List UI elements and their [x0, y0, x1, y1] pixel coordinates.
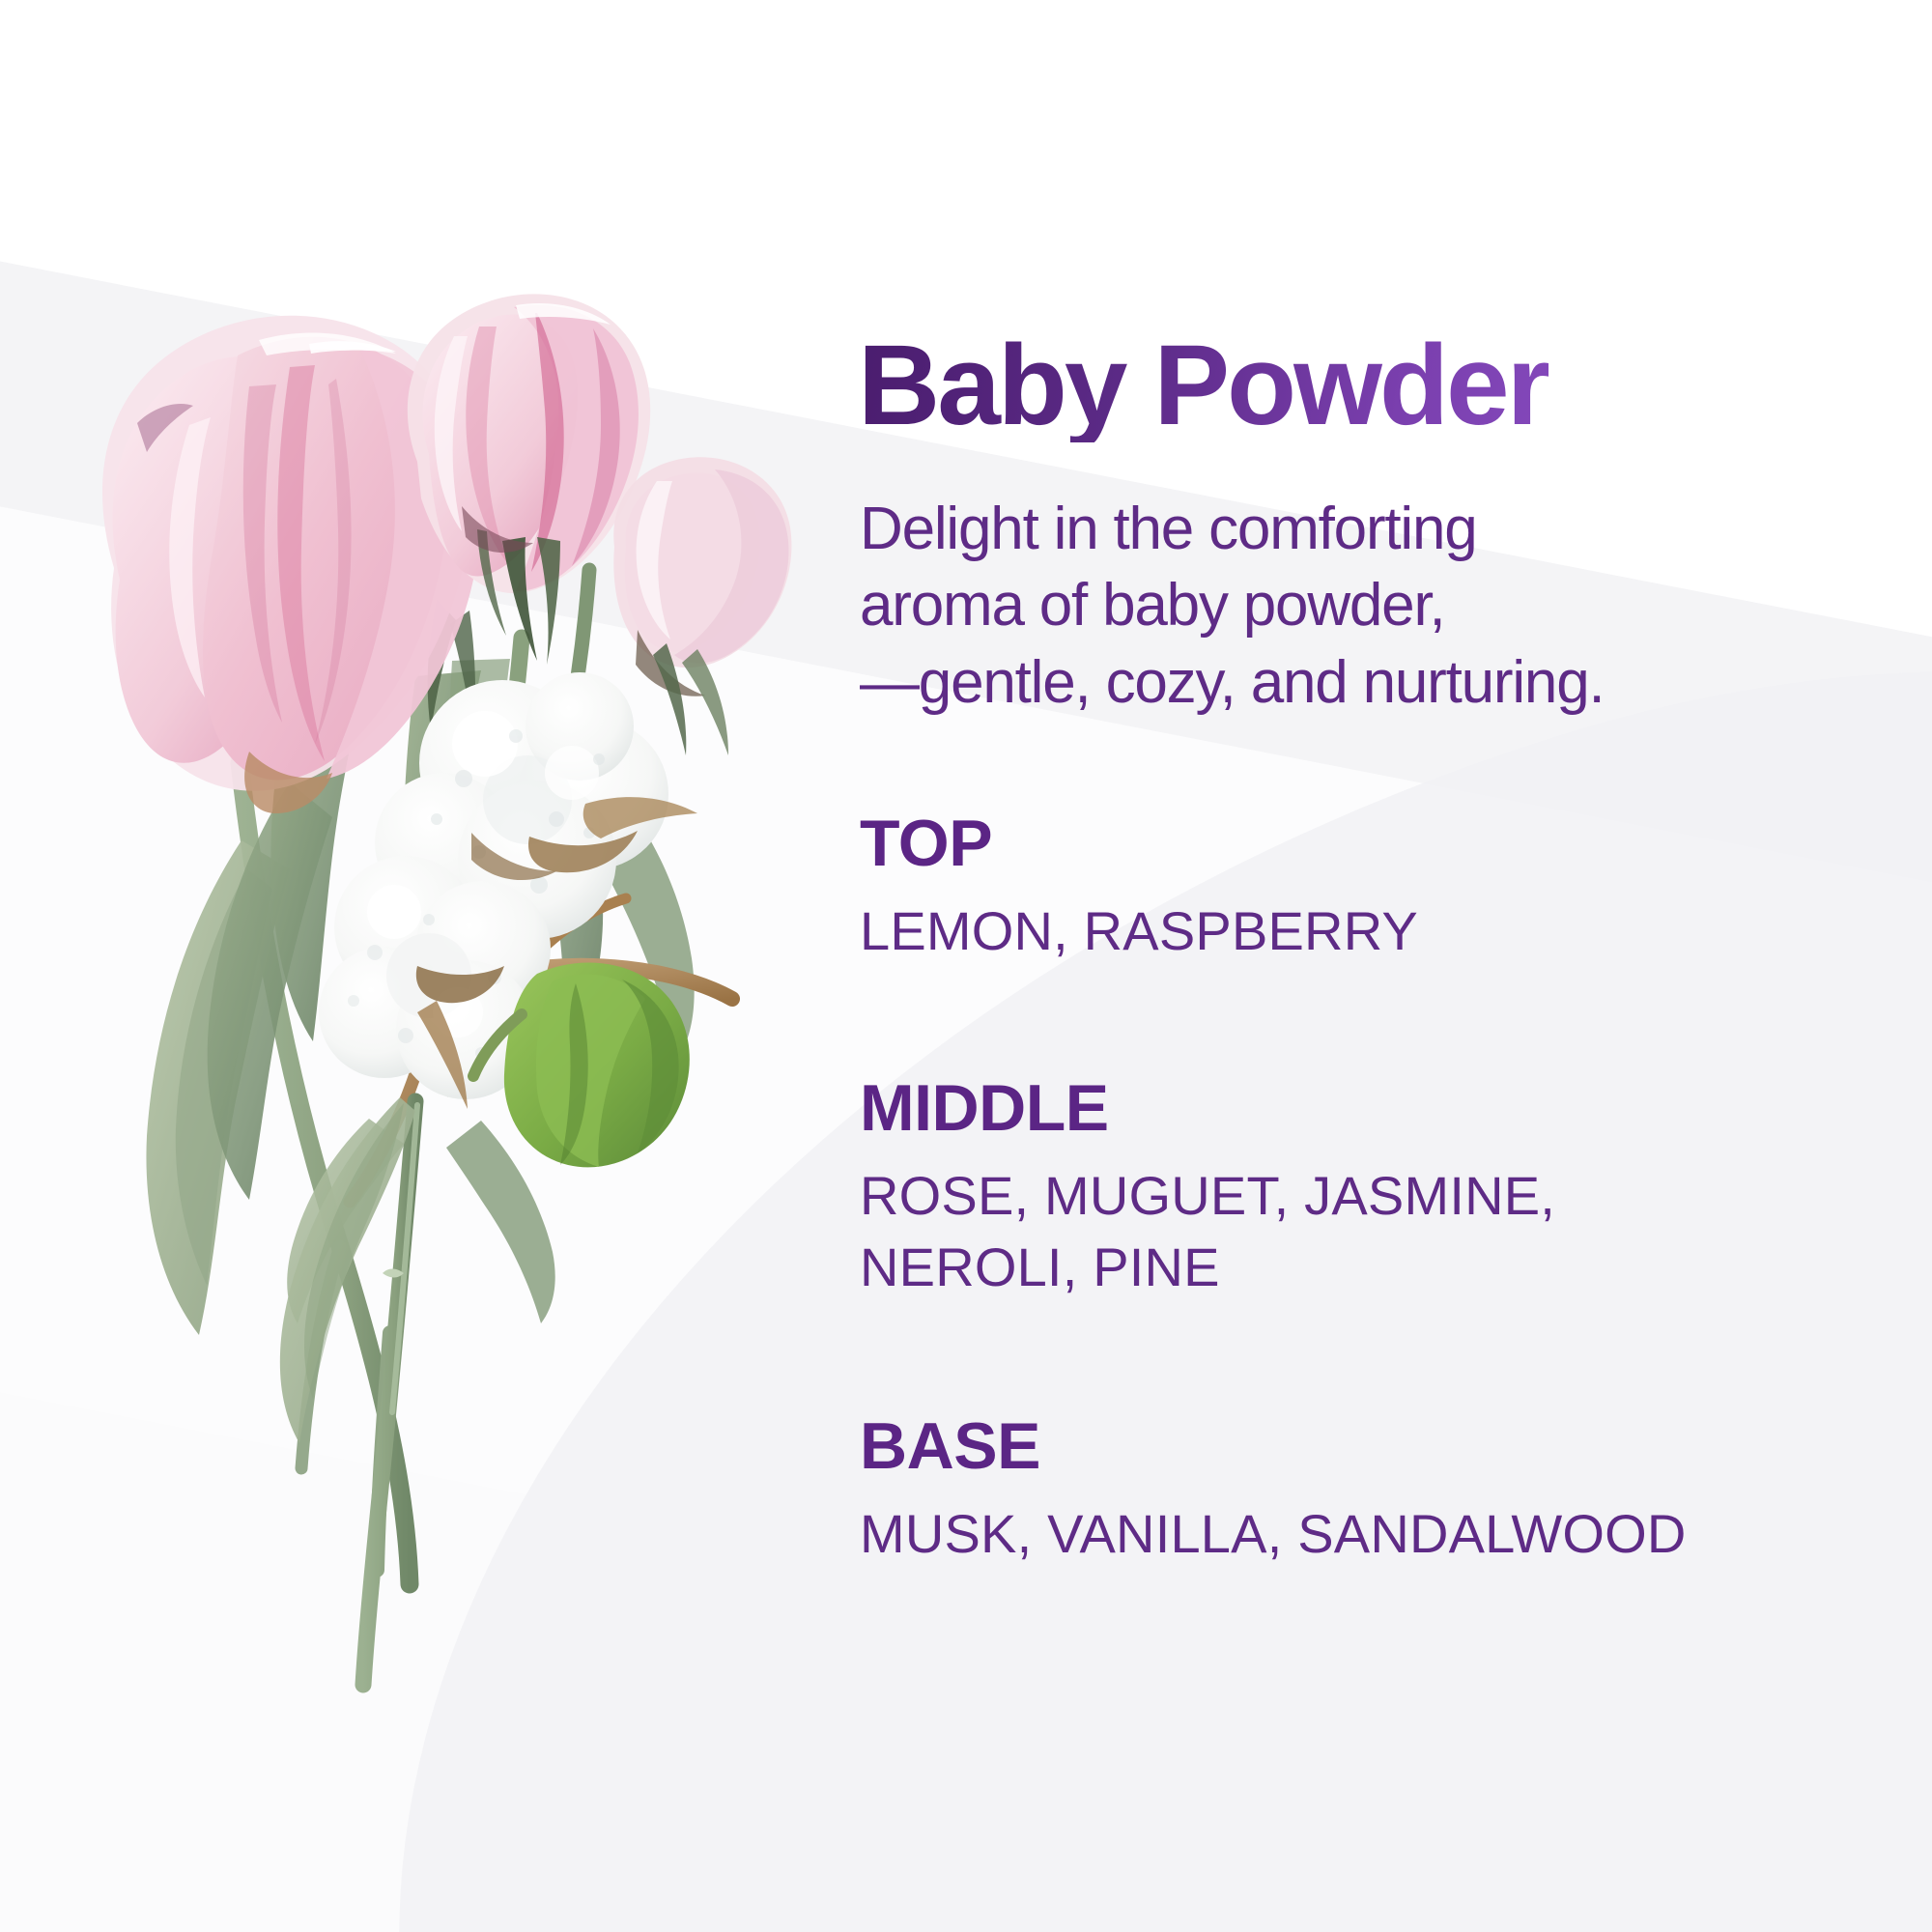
note-list-top: LEMON, RASPBERRY — [860, 895, 1884, 967]
note-list-base: MUSK, VANILLA, SANDALWOOD — [860, 1498, 1884, 1570]
product-description: Delight in the comforting aroma of baby … — [860, 491, 1845, 721]
note-section-middle: MIDDLE ROSE, MUGUET, JASMINE, NEROLI, PI… — [860, 1074, 1884, 1303]
bouquet-svg — [0, 0, 850, 1932]
note-heading-top: TOP — [860, 810, 1884, 878]
description-line-2: aroma of baby powder, — [860, 567, 1845, 643]
tulip-bud-right — [613, 457, 791, 755]
note-top-line-1: LEMON, RASPBERRY — [860, 895, 1884, 967]
product-info-pane: Baby Powder Delight in the comforting ar… — [858, 0, 1932, 1932]
note-section-top: TOP LEMON, RASPBERRY — [860, 810, 1884, 967]
note-middle-line-2: NEROLI, PINE — [860, 1232, 1884, 1303]
fragrance-product-card: Baby Powder Delight in the comforting ar… — [0, 0, 1932, 1932]
note-middle-line-1: ROSE, MUGUET, JASMINE, — [860, 1160, 1884, 1232]
note-base-line-1: MUSK, VANILLA, SANDALWOOD — [860, 1498, 1884, 1570]
note-heading-base: BASE — [860, 1412, 1884, 1481]
page-title: Baby Powder — [858, 328, 1548, 442]
note-heading-middle: MIDDLE — [860, 1074, 1884, 1143]
description-line-1: Delight in the comforting — [860, 491, 1845, 567]
floral-illustration — [0, 0, 850, 1932]
description-line-3: —gentle, cozy, and nurturing. — [860, 644, 1845, 721]
note-section-base: BASE MUSK, VANILLA, SANDALWOOD — [860, 1412, 1884, 1570]
note-list-middle: ROSE, MUGUET, JASMINE, NEROLI, PINE — [860, 1160, 1884, 1303]
